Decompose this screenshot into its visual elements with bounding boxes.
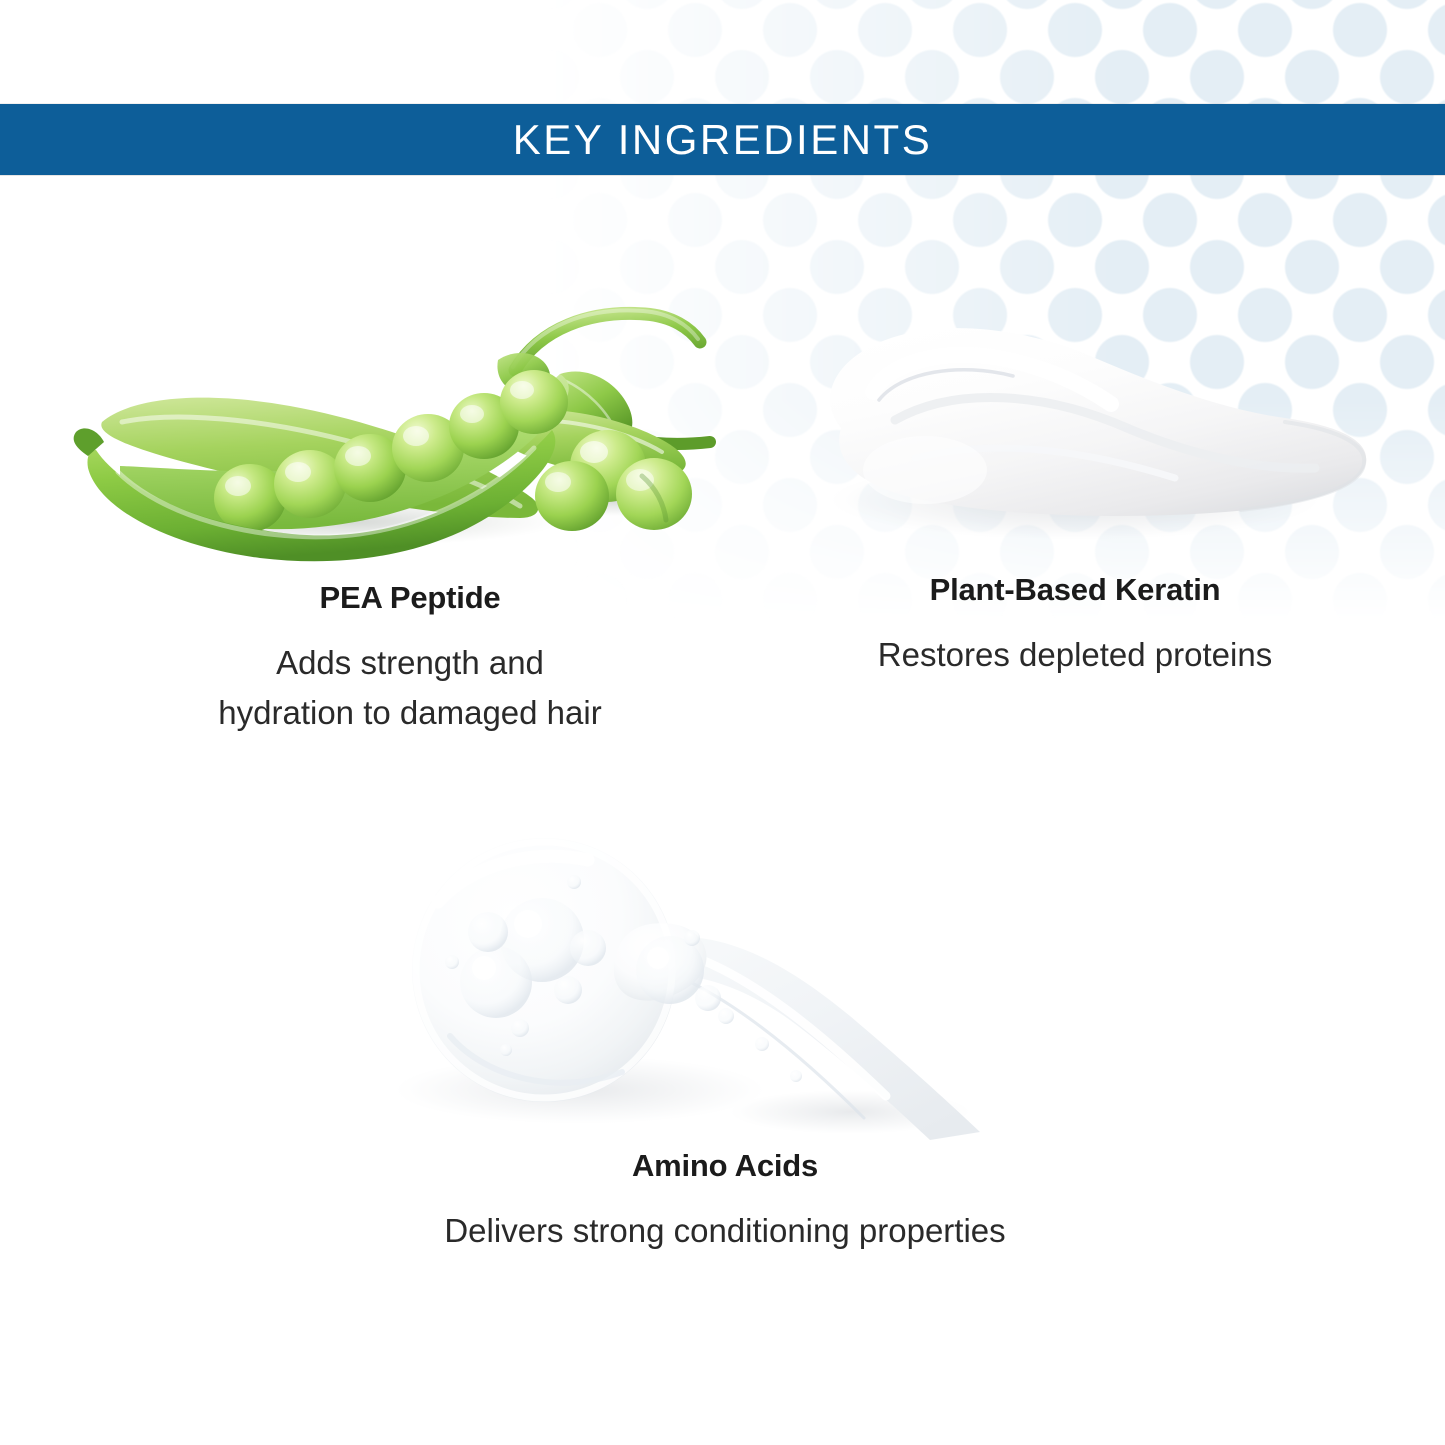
ingredient-description: Restores depleted proteins xyxy=(745,630,1405,680)
infographic-canvas: KEY INGREDIENTS xyxy=(0,0,1445,1445)
pea-pod-image xyxy=(60,270,760,570)
serum-droplet-image xyxy=(330,820,1120,1140)
ingredient-description-line-2: hydration to damaged hair xyxy=(60,688,760,738)
ingredient-description: Delivers strong conditioning properties xyxy=(330,1206,1120,1256)
ingredient-card-amino-acids: Amino Acids Delivers strong conditioning… xyxy=(330,820,1120,1256)
ingredient-description-line-1: Adds strength and xyxy=(60,638,760,688)
cream-swatch-image xyxy=(745,300,1405,550)
page-title: KEY INGREDIENTS xyxy=(513,119,932,161)
ingredient-description-line-1: Delivers strong conditioning properties xyxy=(330,1206,1120,1256)
ingredient-title: Amino Acids xyxy=(330,1148,1120,1184)
key-ingredients-header-band: KEY INGREDIENTS xyxy=(0,104,1445,175)
ingredient-description: Adds strength and hydration to damaged h… xyxy=(60,638,760,738)
ingredient-card-pea-peptide: PEA Peptide Adds strength and hydration … xyxy=(60,270,760,738)
ingredient-description-line-1: Restores depleted proteins xyxy=(745,630,1405,680)
ingredient-title: Plant-Based Keratin xyxy=(745,572,1405,608)
ingredient-title: PEA Peptide xyxy=(60,580,760,616)
ingredient-card-plant-based-keratin: Plant-Based Keratin Restores depleted pr… xyxy=(745,300,1405,680)
